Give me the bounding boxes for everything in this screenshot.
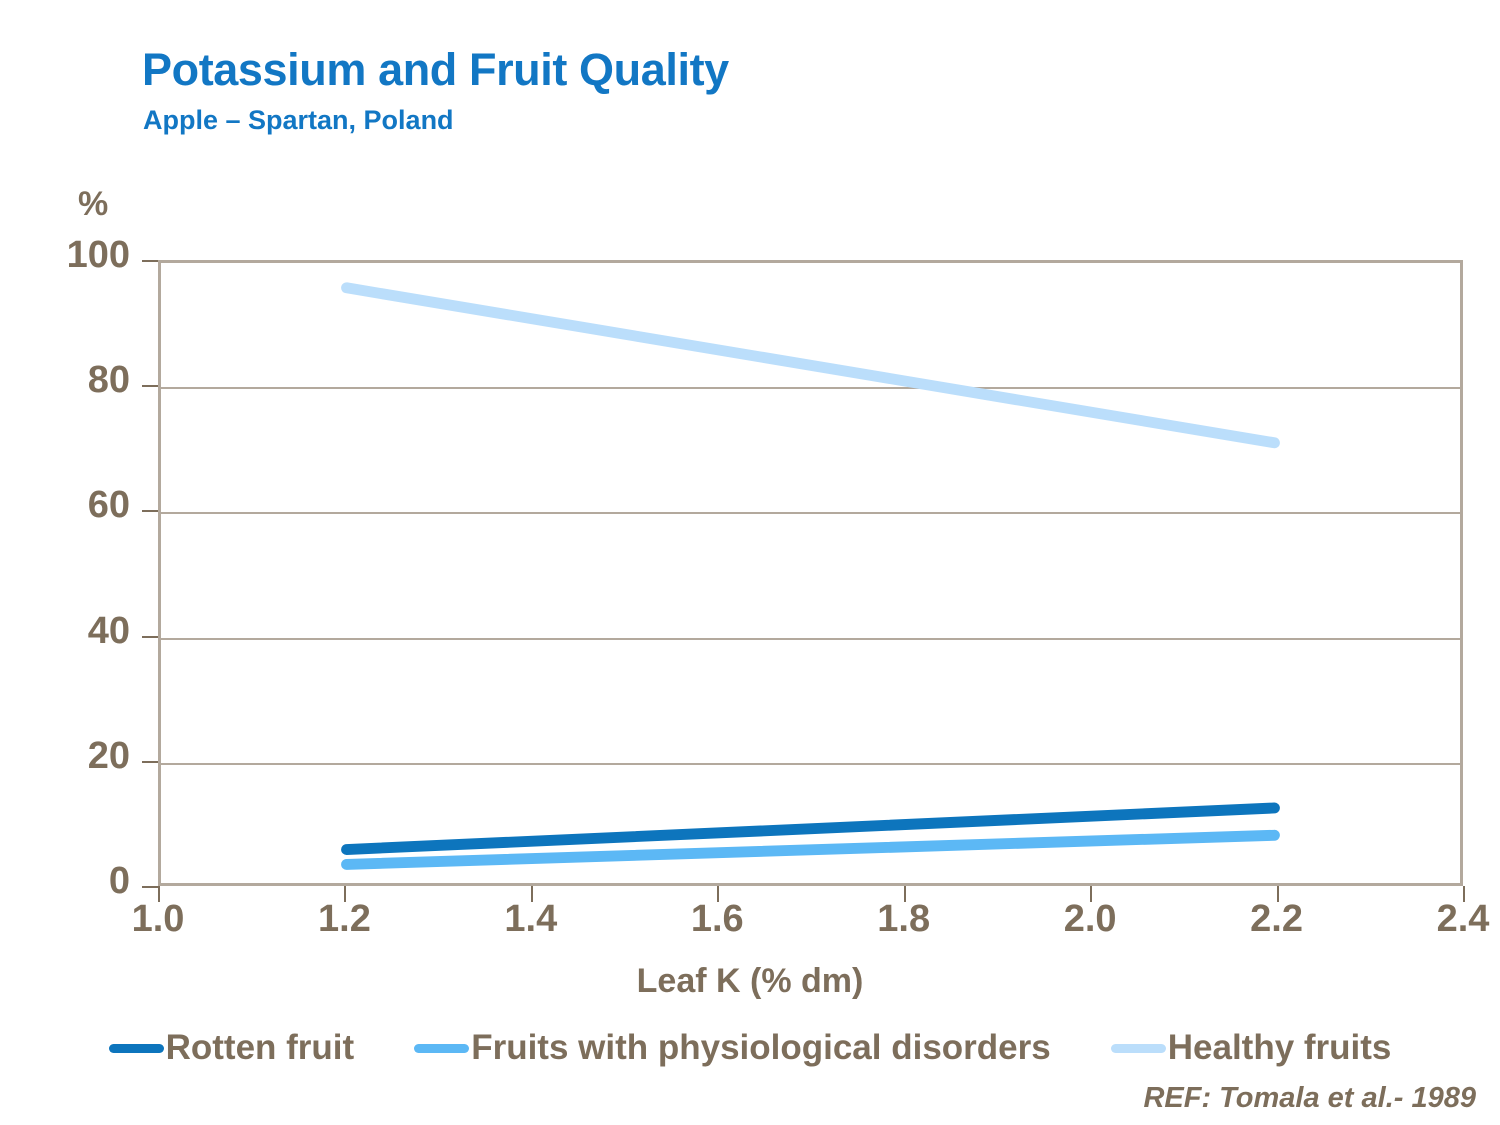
x-axis-title: Leaf K (% dm) bbox=[0, 962, 1500, 1001]
legend-label: Healthy fruits bbox=[1168, 1028, 1392, 1068]
y-tick-mark bbox=[142, 385, 158, 387]
x-tick-mark bbox=[717, 886, 719, 902]
y-tick-mark bbox=[142, 761, 158, 763]
x-tick-mark bbox=[158, 886, 160, 902]
y-tick-label: 80 bbox=[20, 359, 130, 402]
reference-note: REF: Tomala et al.- 1989 bbox=[1143, 1082, 1476, 1115]
chart-title: Potassium and Fruit Quality bbox=[142, 44, 729, 96]
x-tick-label: 1.8 bbox=[844, 898, 964, 941]
y-tick-mark bbox=[142, 260, 158, 262]
chart-subtitle: Apple – Spartan, Poland bbox=[143, 105, 454, 136]
legend-swatch-icon bbox=[109, 1044, 164, 1053]
x-tick-label: 2.4 bbox=[1403, 898, 1500, 941]
legend-item[interactable]: Rotten fruit bbox=[109, 1028, 355, 1068]
chart-legend: Rotten fruitFruits with physiological di… bbox=[0, 1028, 1500, 1068]
plot-area bbox=[158, 260, 1463, 886]
y-tick-label: 0 bbox=[20, 860, 130, 903]
series-line bbox=[347, 288, 1275, 443]
y-tick-mark bbox=[142, 886, 158, 888]
y-tick-label: 60 bbox=[20, 484, 130, 527]
x-tick-label: 1.2 bbox=[284, 898, 404, 941]
legend-label: Rotten fruit bbox=[166, 1028, 355, 1068]
series-lines bbox=[161, 263, 1460, 883]
legend-swatch-icon bbox=[1111, 1044, 1166, 1053]
x-tick-mark bbox=[1090, 886, 1092, 902]
y-tick-label: 20 bbox=[20, 735, 130, 778]
x-tick-label: 1.6 bbox=[657, 898, 777, 941]
x-tick-mark bbox=[531, 886, 533, 902]
x-tick-mark bbox=[1463, 886, 1465, 902]
x-tick-label: 1.4 bbox=[471, 898, 591, 941]
y-tick-mark bbox=[142, 636, 158, 638]
y-tick-mark bbox=[142, 510, 158, 512]
x-tick-mark bbox=[904, 886, 906, 902]
y-tick-label: 40 bbox=[20, 610, 130, 653]
y-tick-label: 100 bbox=[20, 234, 130, 277]
x-tick-mark bbox=[1277, 886, 1279, 902]
legend-label: Fruits with physiological disorders bbox=[471, 1028, 1051, 1068]
y-axis-unit-label: % bbox=[78, 185, 108, 224]
x-tick-label: 1.0 bbox=[98, 898, 218, 941]
x-tick-label: 2.2 bbox=[1217, 898, 1337, 941]
x-tick-label: 2.0 bbox=[1030, 898, 1150, 941]
legend-item[interactable]: Healthy fruits bbox=[1111, 1028, 1392, 1068]
legend-swatch-icon bbox=[414, 1044, 469, 1053]
x-tick-mark bbox=[344, 886, 346, 902]
legend-item[interactable]: Fruits with physiological disorders bbox=[414, 1028, 1051, 1068]
